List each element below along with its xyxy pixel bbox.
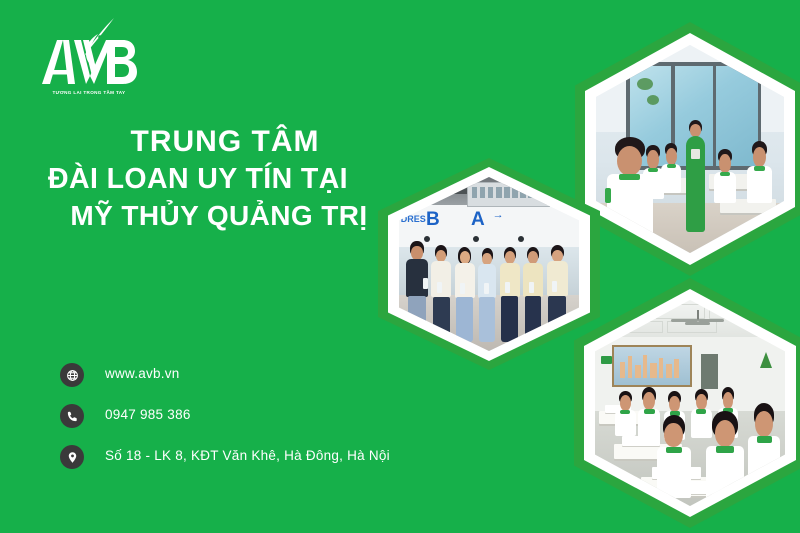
headline-line-2: ĐÀI LOAN UY TÍN TẠI xyxy=(48,161,398,198)
contact-row-address[interactable]: Số 18 - LK 8, KĐT Văn Khê, Hà Đông, Hà N… xyxy=(60,444,390,469)
contact-info: www.avb.vn 0947 985 386 Số 18 - LK 8, KĐ… xyxy=(60,362,390,469)
banner-root: TƯƠNG LAI TRONG TẦM TAY TRUNG TÂM ĐÀI LO… xyxy=(0,0,800,533)
headline-line-3: MỸ THỦY QUẢNG TRỊ xyxy=(48,198,398,234)
headline-line-1: TRUNG TÂM xyxy=(48,122,398,161)
hex-white-ring xyxy=(585,33,795,265)
photo-classroom-teacher xyxy=(596,45,784,253)
hex-white-ring: DRES B A → xyxy=(388,167,590,361)
photo-airport-group: DRES B A → xyxy=(399,177,579,351)
website-value: www.avb.vn xyxy=(105,362,180,385)
contact-row-phone[interactable]: 0947 985 386 xyxy=(60,403,390,428)
swan-logo-icon xyxy=(28,14,148,96)
photo-students-studying xyxy=(595,300,785,506)
map-pin-icon xyxy=(60,445,84,469)
photo-hex-airport-group: DRES B A → xyxy=(378,158,600,370)
phone-value: 0947 985 386 xyxy=(105,403,191,426)
photo-hex-classroom-teacher xyxy=(575,22,800,276)
brand-logo: TƯƠNG LAI TRONG TẦM TAY xyxy=(28,14,148,96)
photo-hex-students-studying xyxy=(574,278,800,528)
brand-tagline: TƯƠNG LAI TRONG TẦM TAY xyxy=(30,90,148,95)
headline: TRUNG TÂM ĐÀI LOAN UY TÍN TẠI MỸ THỦY QU… xyxy=(48,122,398,234)
contact-row-website[interactable]: www.avb.vn xyxy=(60,362,390,387)
phone-icon xyxy=(60,404,84,428)
hex-white-ring xyxy=(584,289,796,517)
address-value: Số 18 - LK 8, KĐT Văn Khê, Hà Đông, Hà N… xyxy=(105,444,390,467)
hexagon-photo-cluster: DRES B A → xyxy=(360,0,800,533)
globe-icon xyxy=(60,363,84,387)
